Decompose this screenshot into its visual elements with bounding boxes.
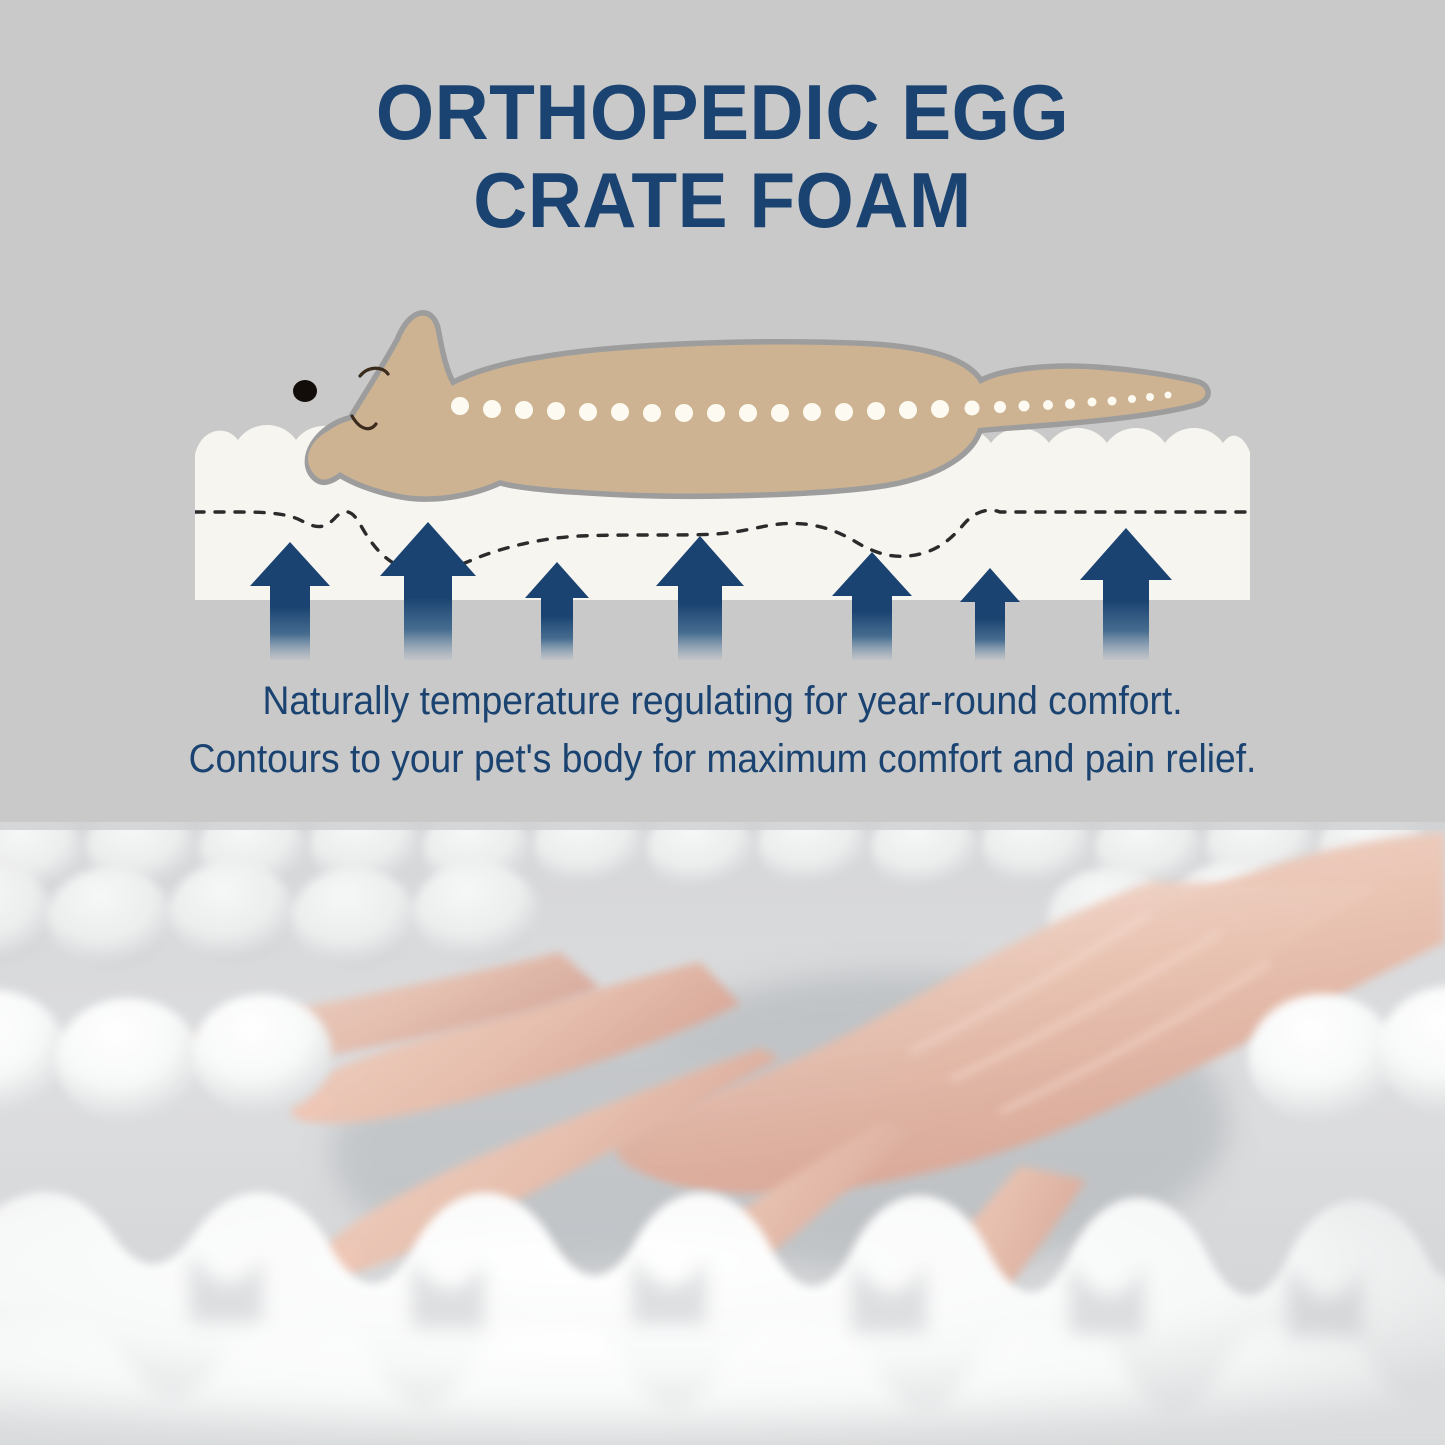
feature-caption: Naturally temperature regulating for yea… <box>0 672 1445 788</box>
foam-support-diagram <box>0 280 1445 660</box>
dog-nose-icon <box>293 380 317 402</box>
title-line-2: CRATE FOAM <box>29 156 1416 244</box>
infographic-page: ORTHOPEDIC EGG CRATE FOAM <box>0 0 1445 1445</box>
caption-line-2: Contours to your pet's body for maximum … <box>51 730 1395 788</box>
title-line-1: ORTHOPEDIC EGG <box>29 68 1416 156</box>
top-info-panel: ORTHOPEDIC EGG CRATE FOAM <box>0 0 1445 822</box>
foam-texture-photo <box>0 822 1445 1445</box>
page-title: ORTHOPEDIC EGG CRATE FOAM <box>29 68 1416 244</box>
caption-line-1: Naturally temperature regulating for yea… <box>51 672 1395 730</box>
